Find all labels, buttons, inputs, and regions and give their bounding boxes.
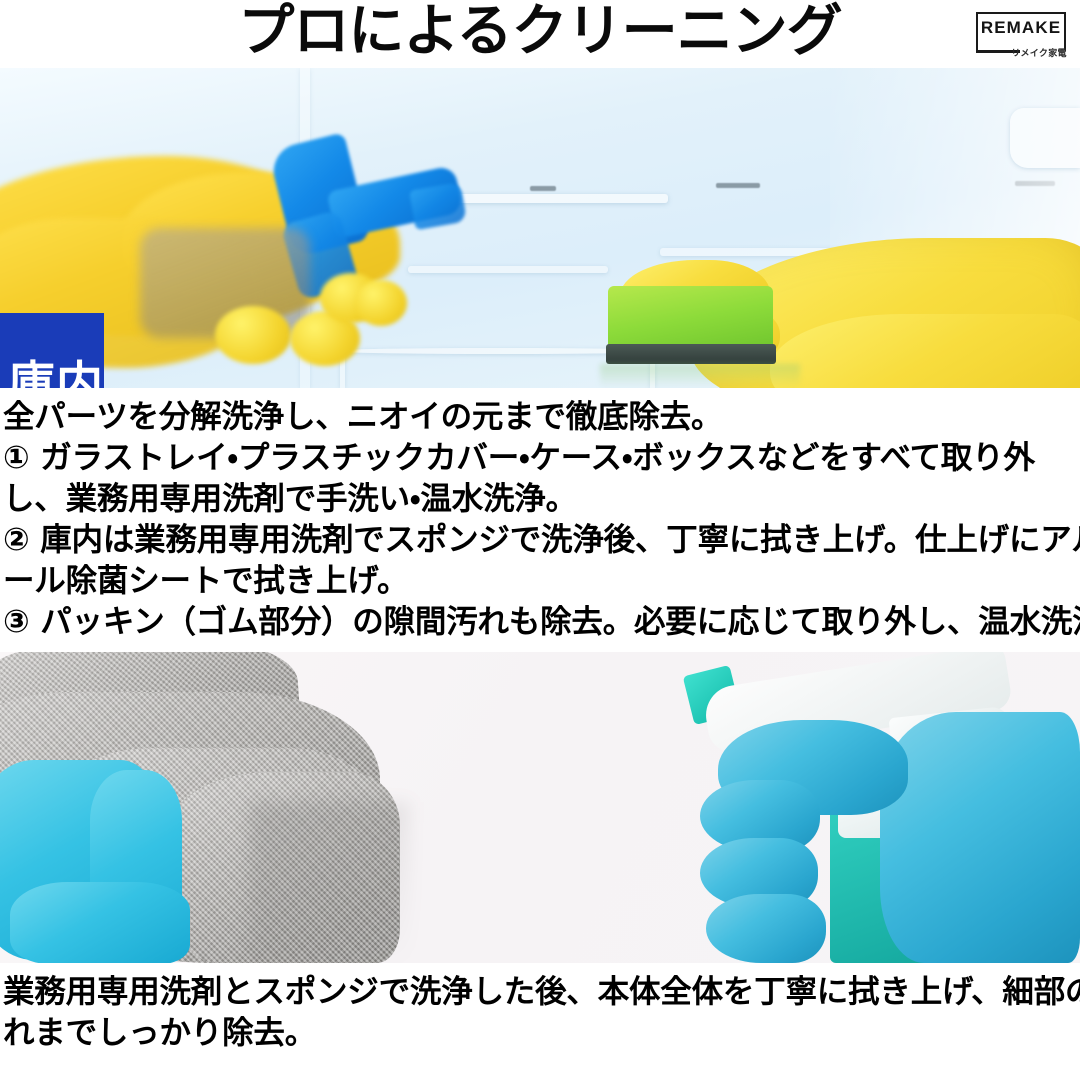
description-line: ② 庫内は業務用専用洗剤でスポンジで洗浄後、丁寧に拭き上げ。仕上げにアルコ bbox=[0, 520, 1080, 561]
description-exterior: 業務用専用洗剤とスポンジで洗浄した後、本体全体を丁寧に拭き上げ、細部の汚 れまで… bbox=[0, 963, 1080, 1080]
description-line: 業務用専用洗剤とスポンジで洗浄した後、本体全体を丁寧に拭き上げ、細部の汚 bbox=[0, 963, 1080, 1013]
logo-subtitle: リメイク家電 bbox=[1008, 46, 1070, 59]
cloth-shadow bbox=[250, 802, 410, 962]
blue-glove-right-finger-3 bbox=[706, 894, 826, 963]
description-interior: 全パーツを分解洗浄し、ニオイの元まで徹底除去。 ① ガラストレイ・プラスチックカ… bbox=[0, 388, 1080, 652]
description-line: れまでしっかり除去。 bbox=[0, 1013, 1080, 1054]
shelf-notch-c bbox=[716, 183, 760, 188]
fridge-shelf-lower bbox=[408, 266, 608, 273]
description-line: 全パーツを分解洗浄し、ニオイの元まで徹底除去。 bbox=[0, 388, 1080, 438]
shelf-notch-b bbox=[530, 186, 556, 191]
badge-interior-label: 庫内 bbox=[0, 361, 104, 388]
blue-glove-left-cuff bbox=[10, 882, 190, 963]
sponge-reflection bbox=[600, 364, 800, 388]
description-line: ① ガラストレイ・プラスチックカバー・ケース・ボックスなどをすべて取り外 bbox=[0, 438, 1080, 479]
photo-exterior-cleaning: 外装 bbox=[0, 652, 1080, 963]
page-title: プロによるクリーニング bbox=[0, 0, 1080, 66]
sponge-scour-pad bbox=[606, 344, 776, 364]
blue-glove-right-hand bbox=[880, 712, 1080, 963]
photo-fridge-interior-cleaning: 庫内 bbox=[0, 68, 1080, 388]
remake-logo: REMAKE リメイク家電 bbox=[974, 6, 1070, 62]
logo-wordmark: REMAKE bbox=[974, 18, 1068, 38]
description-line: ール除菌シートで拭き上げ。 bbox=[0, 561, 1080, 602]
badge-interior: 庫内 bbox=[0, 313, 104, 388]
description-line: ③ パッキン（ゴム部分）の隙間汚れも除去。必要に応じて取り外し、温水洗浄。 bbox=[0, 602, 1080, 643]
sponge bbox=[608, 286, 773, 350]
glove-finger-4 bbox=[355, 280, 407, 326]
cleaning-service-infographic: プロによるクリーニング REMAKE リメイク家電 bbox=[0, 0, 1080, 1080]
glove-finger-1 bbox=[215, 306, 291, 364]
header: プロによるクリーニング REMAKE リメイク家電 bbox=[0, 0, 1080, 68]
description-line: し、業務用専用洗剤で手洗い・温水洗浄。 bbox=[0, 479, 1080, 520]
fridge-door-bin bbox=[1010, 108, 1080, 168]
